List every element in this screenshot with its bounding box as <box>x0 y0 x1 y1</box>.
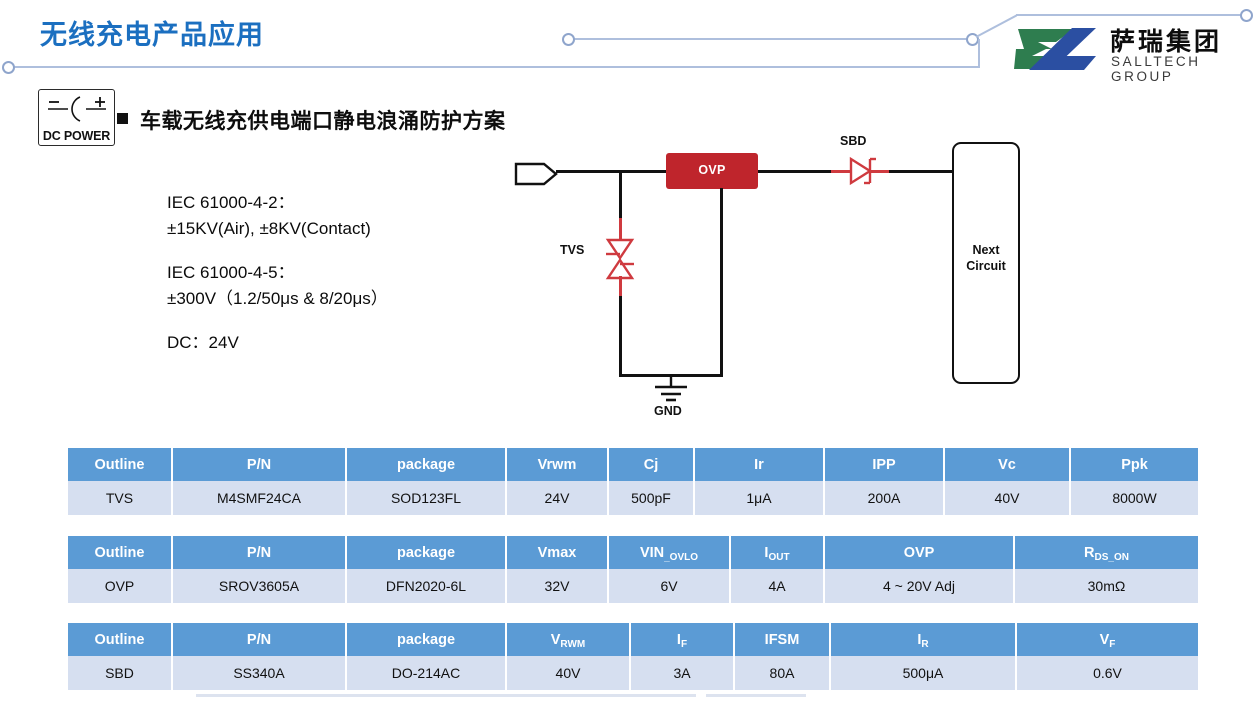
table-cell: 4 ~ 20V Adj <box>824 569 1014 603</box>
bottom-accent-bar <box>196 694 696 697</box>
table-row: SBDSS340ADO-214AC40V3A80A500μA0.6V <box>68 656 1198 690</box>
table-body: OVPSROV3605ADFN2020-6L32V6V4A4 ~ 20V Adj… <box>68 569 1198 603</box>
column-header: OVP <box>824 536 1014 569</box>
wire-ovp-to-ground <box>720 188 723 376</box>
table-cell: OVP <box>68 569 172 603</box>
next-circuit-block: Next Circuit <box>952 142 1020 384</box>
column-header: VRWM <box>506 623 630 656</box>
column-header: IF <box>630 623 734 656</box>
dc-power-symbol-icon <box>44 94 110 124</box>
column-header: IOUT <box>730 536 824 569</box>
section-title: 车载无线充供电端口静电浪涌防护方案 <box>140 105 506 135</box>
table-cell: 4A <box>730 569 824 603</box>
table-cell: 0.6V <box>1016 656 1198 690</box>
spec-line: IEC 61000-4-2： <box>167 190 467 216</box>
table-row: TVSM4SMF24CASOD123FL24V500pF1μA200A40V80… <box>68 481 1198 515</box>
table-cell: 32V <box>506 569 608 603</box>
column-header: IPP <box>824 448 944 481</box>
header-decoration-line-top <box>1016 14 1244 16</box>
table-cell: 40V <box>944 481 1070 515</box>
page-header: 无线充电产品应用 萨瑞集团 SALLTECH GROUP <box>0 0 1257 92</box>
tvs-spec-table: OutlineP/NpackageVrwmCjIrIPPVcPpk TVSM4S… <box>68 448 1198 515</box>
column-header: P/N <box>172 623 346 656</box>
table-cell: SOD123FL <box>346 481 506 515</box>
spec-spacer <box>167 242 467 260</box>
logo-text-cn: 萨瑞集团 <box>1110 22 1222 58</box>
input-port-icon <box>514 160 558 188</box>
column-header: package <box>346 536 506 569</box>
table-cell: 30mΩ <box>1014 569 1198 603</box>
column-header: Vrwm <box>506 448 608 481</box>
table-cell: 8000W <box>1070 481 1198 515</box>
ovp-spec-table: OutlineP/NpackageVmaxVIN_OVLOIOUTOVPRDS_… <box>68 536 1198 603</box>
table-cell: 3A <box>630 656 734 690</box>
column-header: IFSM <box>734 623 830 656</box>
next-circuit-label-line2: Circuit <box>966 259 1006 273</box>
table-header-row: OutlineP/NpackageVRWMIFIFSMIRVF <box>68 623 1198 656</box>
spec-line: IEC 61000-4-5： <box>167 260 467 286</box>
table-header-row: OutlineP/NpackageVrwmCjIrIPPVcPpk <box>68 448 1198 481</box>
table-cell: SROV3605A <box>172 569 346 603</box>
header-decoration-riser <box>978 39 980 67</box>
column-header: Ppk <box>1070 448 1198 481</box>
table-body: SBDSS340ADO-214AC40V3A80A500μA0.6V <box>68 656 1198 690</box>
header-decoration-line-lower <box>14 66 980 68</box>
ground-symbol-icon <box>648 374 694 404</box>
table-head: OutlineP/NpackageVRWMIFIFSMIRVF <box>68 623 1198 656</box>
spec-spacer <box>167 312 467 330</box>
table-body: TVSM4SMF24CASOD123FL24V500pF1μA200A40V80… <box>68 481 1198 515</box>
sbd-label: SBD <box>840 134 866 148</box>
table-cell: TVS <box>68 481 172 515</box>
table-cell: 500pF <box>608 481 694 515</box>
table-row: OVPSROV3605ADFN2020-6L32V6V4A4 ~ 20V Adj… <box>68 569 1198 603</box>
table-cell: DO-214AC <box>346 656 506 690</box>
column-header: Outline <box>68 448 172 481</box>
sbd-schottky-diode-icon <box>846 155 880 187</box>
table-head: OutlineP/NpackageVrwmCjIrIPPVcPpk <box>68 448 1198 481</box>
column-header: Vmax <box>506 536 608 569</box>
table-cell: 1μA <box>694 481 824 515</box>
gnd-label: GND <box>654 404 682 418</box>
column-header: P/N <box>172 536 346 569</box>
table-cell: 500μA <box>830 656 1016 690</box>
ovp-component-block: OVP <box>666 153 758 189</box>
table-cell: 40V <box>506 656 630 690</box>
next-circuit-label-line1: Next <box>972 243 999 257</box>
next-circuit-label: Next Circuit <box>954 242 1018 274</box>
tvs-diode-icon <box>600 236 640 282</box>
company-logo: 萨瑞集团 SALLTECH GROUP <box>1012 22 1250 78</box>
spec-line: ±300V（1.2/50μs & 8/20μs） <box>167 286 467 312</box>
table-header-row: OutlineP/NpackageVmaxVIN_OVLOIOUTOVPRDS_… <box>68 536 1198 569</box>
column-header: package <box>346 623 506 656</box>
logo-mark-icon <box>1012 25 1104 73</box>
table-cell: 80A <box>734 656 830 690</box>
bottom-accent-bar-2 <box>706 694 806 697</box>
header-decoration-line-upper <box>572 38 972 40</box>
logo-text-en: SALLTECH GROUP <box>1111 54 1250 84</box>
section-bullet-icon <box>117 113 128 124</box>
column-header: Vc <box>944 448 1070 481</box>
table-cell: 24V <box>506 481 608 515</box>
wire-node-to-tvs <box>619 170 622 219</box>
wire-tvs-to-ground <box>619 296 622 376</box>
column-header: Cj <box>608 448 694 481</box>
column-header: IR <box>830 623 1016 656</box>
spec-line: DC：24V <box>167 330 467 356</box>
column-header: P/N <box>172 448 346 481</box>
table-cell: SBD <box>68 656 172 690</box>
column-header: RDS_ON <box>1014 536 1198 569</box>
table-head: OutlineP/NpackageVmaxVIN_OVLOIOUTOVPRDS_… <box>68 536 1198 569</box>
column-header: VF <box>1016 623 1198 656</box>
header-decoration-node-right <box>1240 9 1253 22</box>
ovp-label: OVP <box>666 163 758 177</box>
wire-ovp-to-sbd <box>758 170 833 173</box>
table-cell: 200A <box>824 481 944 515</box>
header-decoration-node-mid-left <box>562 33 575 46</box>
wire-sbd-to-next-circuit <box>889 170 954 173</box>
table-cell: SS340A <box>172 656 346 690</box>
sbd-spec-table: OutlineP/NpackageVRWMIFIFSMIRVF SBDSS340… <box>68 623 1198 690</box>
dc-power-badge: DC POWER <box>38 89 115 146</box>
column-header: VIN_OVLO <box>608 536 730 569</box>
page-title: 无线充电产品应用 <box>40 13 264 52</box>
column-header: Outline <box>68 623 172 656</box>
header-decoration-diagonal <box>976 15 1018 38</box>
column-header: package <box>346 448 506 481</box>
dc-power-badge-label: DC POWER <box>39 129 114 143</box>
column-header: Ir <box>694 448 824 481</box>
table-cell: 6V <box>608 569 730 603</box>
tvs-label: TVS <box>560 243 584 257</box>
spec-line: ±15KV(Air), ±8KV(Contact) <box>167 216 467 242</box>
wire-input-to-ovp <box>556 170 668 173</box>
spec-text-block: IEC 61000-4-2： ±15KV(Air), ±8KV(Contact)… <box>167 190 467 356</box>
table-cell: M4SMF24CA <box>172 481 346 515</box>
table-cell: DFN2020-6L <box>346 569 506 603</box>
column-header: Outline <box>68 536 172 569</box>
header-decoration-node-left <box>2 61 15 74</box>
